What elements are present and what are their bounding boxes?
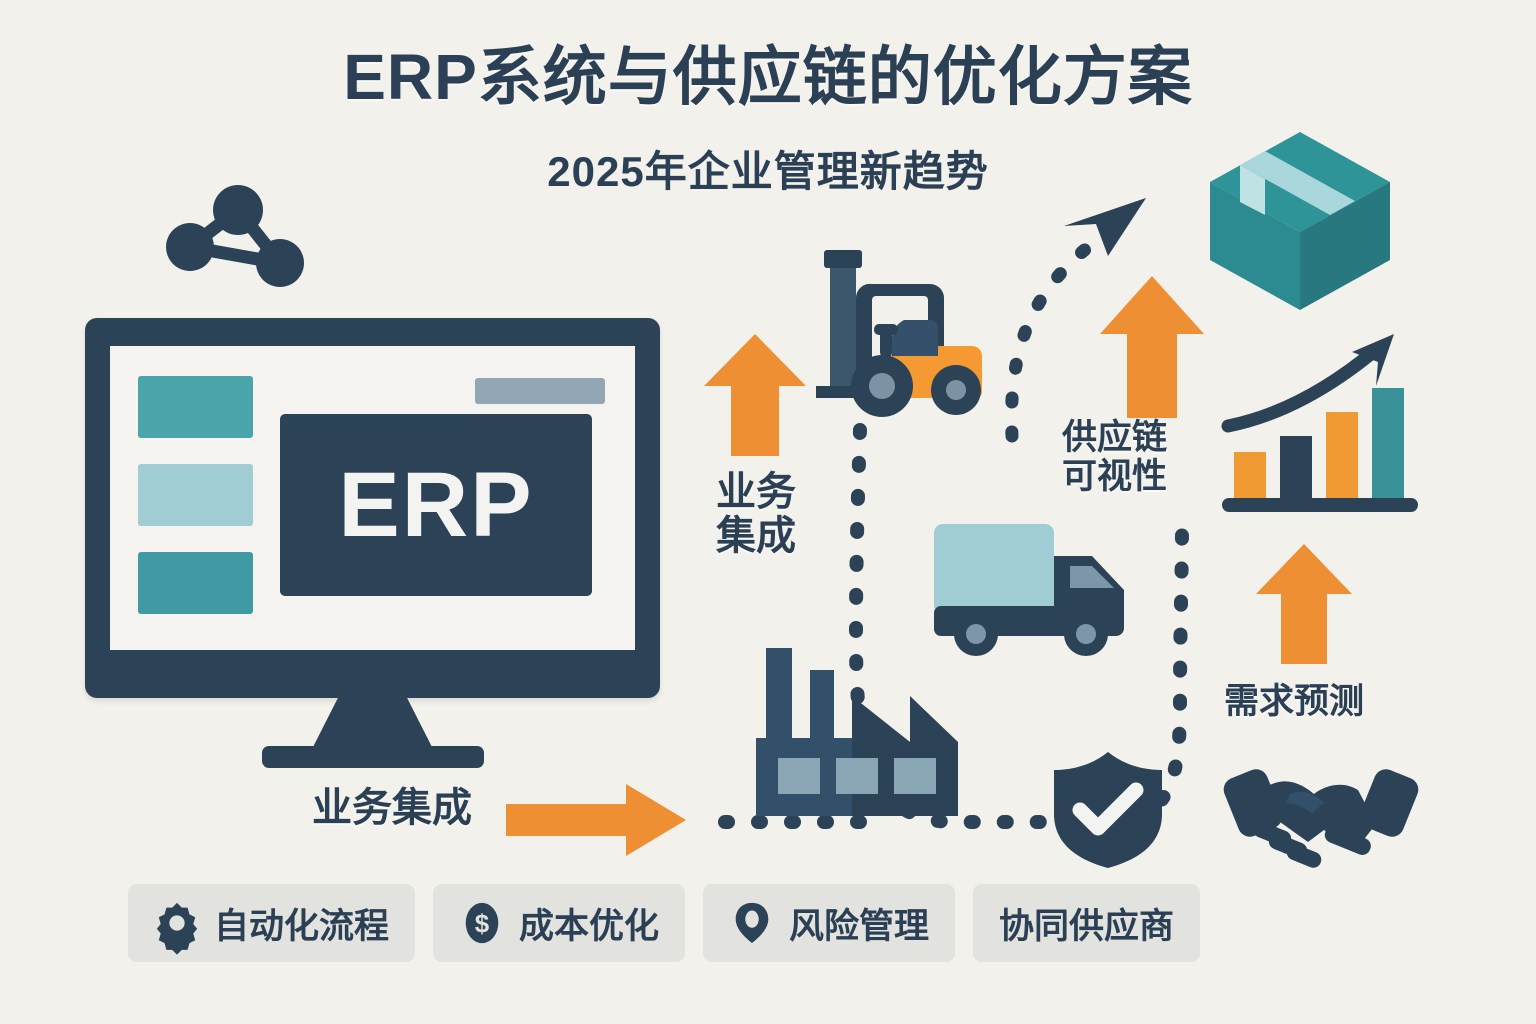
network-nodes-icon: [160, 185, 310, 290]
pill-label: 成本优化: [519, 898, 659, 949]
growth-bar-chart-icon: [1218, 330, 1448, 520]
pill-risk-management[interactable]: 风险管理: [703, 884, 955, 962]
dashboard-card-1: [138, 376, 253, 438]
dollar-coin-icon: $: [459, 900, 505, 946]
pill-label: 风险管理: [789, 898, 929, 949]
dashboard-card-2: [138, 464, 253, 526]
factory-icon: [748, 640, 958, 820]
orange-arrow-up-middle: [1096, 272, 1208, 422]
monitor-stand-base: [262, 746, 484, 768]
infographic-canvas: ERP系统与供应链的优化方案 2025年企业管理新趋势 ERP: [0, 0, 1536, 1024]
pill-cost-optimization[interactable]: $ 成本优化: [433, 884, 685, 962]
orange-arrow-right-bottom: [504, 782, 688, 858]
svg-text:$: $: [475, 911, 490, 939]
label-business-integration-bottom: 业务集成: [312, 786, 472, 830]
feature-pill-row: 自动化流程 $ 成本优化 风险管理 协同供应商: [128, 884, 1200, 962]
shield-check-icon: [1048, 748, 1168, 870]
pill-supplier-collaboration[interactable]: 协同供应商: [973, 884, 1200, 962]
erp-label: ERP: [338, 459, 533, 551]
monitor-stand-neck: [313, 696, 433, 748]
dashboard-card-3: [138, 552, 253, 614]
dashboard-topbar: [475, 378, 605, 404]
delivery-truck-icon: [930, 518, 1145, 658]
forklift-icon: [808, 238, 998, 418]
shield-pin-icon: [729, 900, 775, 946]
pill-automation[interactable]: 自动化流程: [128, 884, 415, 962]
monitor-bezel: ERP: [85, 318, 660, 698]
pill-label: 协同供应商: [999, 898, 1174, 949]
monitor-screen: ERP: [110, 346, 635, 650]
handshake-icon: [1228, 750, 1414, 866]
erp-panel: ERP: [280, 414, 592, 596]
erp-monitor: ERP: [85, 318, 660, 698]
label-demand-forecast: 需求预测: [1224, 682, 1364, 721]
gear-icon: [154, 900, 200, 946]
package-box-icon: [1205, 120, 1405, 320]
page-title: ERP系统与供应链的优化方案: [0, 44, 1536, 111]
pill-label: 自动化流程: [214, 898, 389, 949]
orange-arrow-up-right: [1252, 540, 1356, 668]
